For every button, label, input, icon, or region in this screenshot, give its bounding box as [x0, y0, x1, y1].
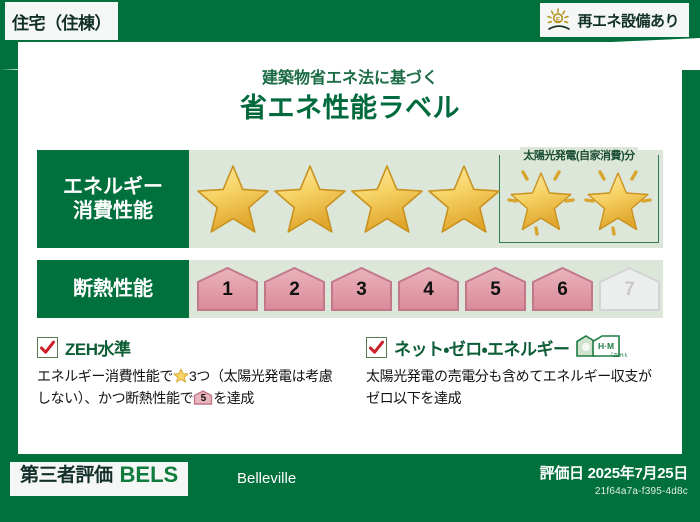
- building-type-chip: 住宅（住棟）: [5, 2, 118, 40]
- star-solar-icon: [503, 162, 579, 236]
- net-zero-note-header: ネット・ゼロ・エネルギー H·M 「ZEH-M」: [366, 334, 653, 360]
- achievement-notes: ZEH水準 エネルギー消費性能で3つ（太陽光発電は考慮しない）、かつ断熱性能で5…: [37, 334, 663, 446]
- label-card: 建築物省エネ法に基づく 省エネ性能ラベル エネルギー 消費性能 太陽光発電(自家…: [18, 42, 682, 454]
- zeh-house-badge: 5: [193, 390, 213, 405]
- zeh-m-logo-icon: H·M 「ZEH-M」: [575, 334, 627, 360]
- insulation-level-1: 1: [195, 266, 260, 312]
- insulation-level-2: 2: [262, 266, 327, 312]
- check-icon: [39, 339, 56, 356]
- svg-text:「ZEH-M」: 「ZEH-M」: [608, 353, 627, 359]
- evaluation-info: 評価日 2025年7月25日 21f64a7a-f395-4d8c: [540, 462, 688, 497]
- building-type-label: 住宅（住棟）: [12, 9, 111, 34]
- insulation-level-6: 6: [530, 266, 595, 312]
- bels-label: BELS: [120, 462, 179, 488]
- star-icon: [195, 162, 271, 236]
- zeh-note-body: エネルギー消費性能で3つ（太陽光発電は考慮しない）、かつ断熱性能で5を達成: [37, 366, 340, 409]
- bels-chip: 第三者評価 BELS: [10, 462, 188, 496]
- label-subtitle: 建築物省エネ法に基づく: [18, 64, 682, 88]
- zeh-house-badge-value: 5: [193, 391, 213, 407]
- evaluation-id: 21f64a7a-f395-4d8c: [540, 486, 688, 497]
- zeh-note: ZEH水準 エネルギー消費性能で3つ（太陽光発電は考慮しない）、かつ断熱性能で5…: [37, 334, 350, 446]
- star-icon: [426, 162, 502, 236]
- insulation-level-5: 5: [463, 266, 528, 312]
- header-bar: 住宅（住棟） E 再エネ設備あり: [0, 0, 700, 46]
- star-icon: [272, 162, 348, 236]
- energy-performance-body: 太陽光発電(自家消費)分: [189, 150, 663, 248]
- zeh-checkbox: [37, 337, 58, 358]
- star-icon: [349, 162, 425, 236]
- energy-label-line1: エネルギー: [63, 175, 163, 199]
- footer-bar: 第三者評価 BELS Belleville 評価日 2025年7月25日 21f…: [0, 454, 700, 522]
- energy-star-rating: [195, 150, 659, 248]
- net-zero-note: ネット・ゼロ・エネルギー H·M 「ZEH-M」 太陽光発電の売電分も含めてエネ…: [350, 334, 663, 446]
- zeh-star-count: 3つ: [189, 368, 210, 384]
- insulation-level-value: 3: [329, 279, 394, 301]
- zeh-note-header: ZEH水準: [37, 334, 340, 360]
- energy-label-line2: 消費性能: [73, 199, 153, 223]
- energy-performance-label: エネルギー 消費性能: [37, 150, 189, 248]
- mini-star-icon: [173, 368, 189, 383]
- check-icon: [368, 339, 385, 356]
- energy-performance-row: エネルギー 消費性能 太陽光発電(自家消費)分: [37, 150, 663, 248]
- insulation-level-value: 5: [463, 279, 528, 301]
- svg-text:E: E: [556, 16, 561, 23]
- star-solar-icon: [580, 162, 656, 236]
- star-solar-6: [580, 157, 656, 241]
- svg-text:H·M: H·M: [598, 341, 614, 351]
- renewable-badge-label: 再エネ設備あり: [577, 10, 679, 31]
- zeh-body-part1: エネルギー消費性能で: [37, 368, 173, 384]
- insulation-level-7: 7: [597, 266, 662, 312]
- label-main-title: 省エネ性能ラベル: [18, 86, 682, 125]
- renewable-equipment-badge: E 再エネ設備あり: [540, 3, 689, 37]
- insulation-level-value: 1: [195, 279, 260, 301]
- energy-performance-label: 住宅（住棟） E 再エネ設備あり 建築物省エネ法に基づく: [0, 0, 700, 522]
- star-filled-1: [195, 157, 271, 241]
- insulation-level-4: 4: [396, 266, 461, 312]
- net-zero-checkbox: [366, 337, 387, 358]
- brand-name: Belleville: [237, 470, 296, 487]
- zeh-note-title: ZEH水準: [65, 335, 131, 360]
- insulation-level-value: 2: [262, 279, 327, 301]
- insulation-level-value: 4: [396, 279, 461, 301]
- sun-icon: E: [546, 8, 572, 32]
- net-zero-note-body: 太陽光発電の売電分も含めてエネルギー収支がゼロ以下を達成: [366, 366, 653, 409]
- insulation-performance-body: 1 2 3: [189, 260, 663, 318]
- insulation-level-scale: 1 2 3: [195, 260, 659, 318]
- zeh-body-part3: を達成: [213, 390, 254, 406]
- net-zero-note-title: ネット・ゼロ・エネルギー: [394, 335, 570, 360]
- insulation-level-value: 6: [530, 279, 595, 301]
- insulation-level-3: 3: [329, 266, 394, 312]
- evaluation-date: 評価日 2025年7月25日: [540, 462, 688, 483]
- third-party-eval-label: 第三者評価: [20, 460, 113, 487]
- insulation-level-value: 7: [597, 279, 662, 301]
- insulation-performance-row: 断熱性能 1: [37, 260, 663, 318]
- star-filled-3: [349, 157, 425, 241]
- star-solar-5: [503, 157, 579, 241]
- insulation-performance-label: 断熱性能: [37, 260, 189, 318]
- star-filled-2: [272, 157, 348, 241]
- star-filled-4: [426, 157, 502, 241]
